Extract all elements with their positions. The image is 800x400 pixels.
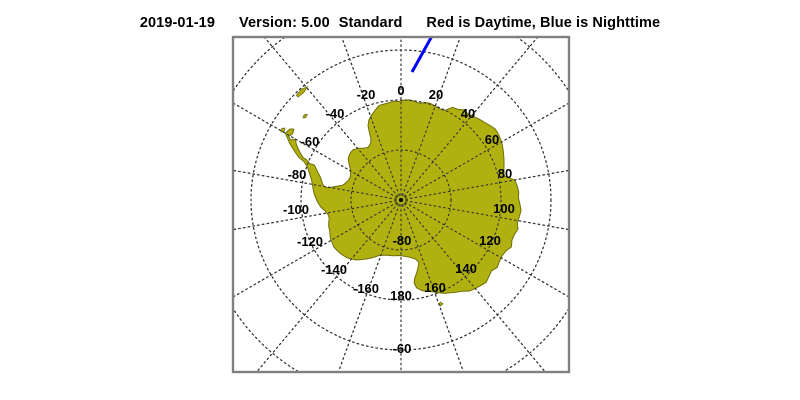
latitude-label-neg60: -60: [393, 341, 412, 356]
antarctica-polar-map: 020406080100120140160180-160-140-120-100…: [0, 0, 800, 400]
longitude-label-neg60: -60: [301, 134, 320, 149]
title-version: Version: 5.00: [239, 15, 330, 31]
title-mode: Standard: [339, 15, 403, 31]
latitude-label-neg80: -80: [393, 233, 412, 248]
longitude-label-neg20: -20: [357, 87, 376, 102]
longitude-label-neg80: -80: [288, 167, 307, 182]
figure-canvas: 2019-01-19Version: 5.00StandardRed is Da…: [0, 0, 800, 400]
longitude-label-neg140: -140: [321, 262, 347, 277]
pole-dot: [399, 198, 403, 202]
longitude-label-140: 140: [455, 261, 477, 276]
longitude-label-40: 40: [461, 106, 475, 121]
longitude-label-120: 120: [479, 233, 501, 248]
longitude-label-neg100: -100: [283, 202, 309, 217]
title-legend: Red is Daytime, Blue is Nighttime: [426, 15, 660, 31]
longitude-label-180: 180: [390, 288, 412, 303]
longitude-label-100: 100: [493, 201, 515, 216]
longitude-label-neg40: -40: [326, 106, 345, 121]
longitude-label-20: 20: [429, 87, 443, 102]
longitude-label-neg120: -120: [297, 234, 323, 249]
title-date: 2019-01-19: [140, 15, 215, 31]
longitude-label-160: 160: [424, 280, 446, 295]
longitude-label-0: 0: [397, 83, 404, 98]
antarctica-island-c: [281, 128, 285, 132]
longitude-label-80: 80: [498, 166, 512, 181]
figure-title: 2019-01-19Version: 5.00StandardRed is Da…: [0, 15, 800, 31]
longitude-label-60: 60: [485, 132, 499, 147]
longitude-label-neg160: -160: [353, 281, 379, 296]
